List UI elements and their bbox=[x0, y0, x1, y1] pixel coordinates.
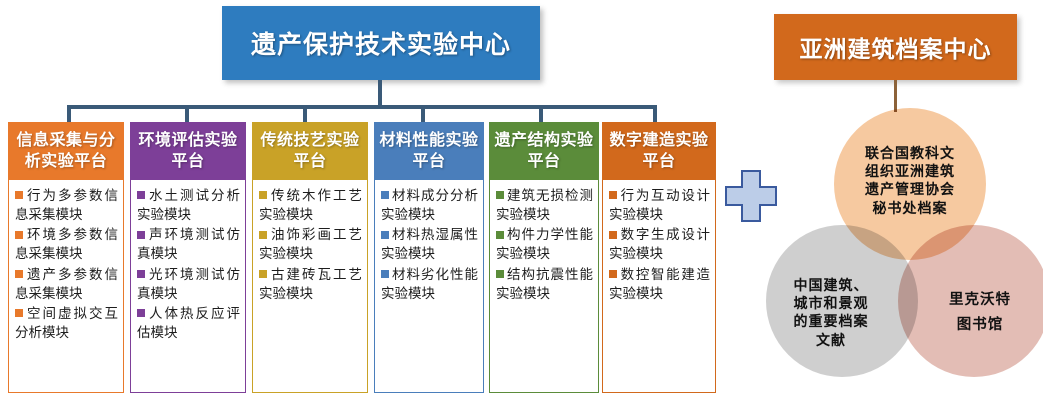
bullet-square-icon bbox=[259, 270, 267, 278]
module-label: 构件力学性能实验模块 bbox=[496, 227, 593, 261]
bullet-square-icon bbox=[15, 270, 23, 278]
module-label: 油饰彩画工艺实验模块 bbox=[259, 227, 362, 261]
platform-column-3[interactable]: 传统技艺实验平台传统木作工艺实验模块油饰彩画工艺实验模块古建砖瓦工艺实验模块 bbox=[252, 122, 368, 393]
module-item[interactable]: 构件力学性能实验模块 bbox=[496, 225, 593, 263]
module-item[interactable]: 数控智能建造实验模块 bbox=[609, 265, 710, 303]
venn-label-top: 联合国教科文组织亚洲建筑遗产管理协会秘书处档案 bbox=[840, 144, 980, 217]
main-title-box: 遗产保护技术实验中心 bbox=[222, 6, 540, 80]
platform-column-4[interactable]: 材料性能实验平台材料成分分析实验模块材料热湿属性实验模块材料劣化性能实验模块 bbox=[374, 122, 484, 393]
module-item[interactable]: 光环境测试仿真模块 bbox=[137, 265, 240, 303]
module-label: 行为多参数信息采集模块 bbox=[15, 188, 118, 222]
venn-label-line: 中国建筑、 bbox=[768, 276, 894, 294]
module-label: 传统木作工艺实验模块 bbox=[259, 188, 362, 222]
venn-label-bottom-right: 里克沃特图书馆 bbox=[920, 288, 1040, 339]
module-label: 遗产多参数信息采集模块 bbox=[15, 267, 118, 301]
connector-drop-3 bbox=[303, 105, 307, 122]
module-label: 光环境测试仿真模块 bbox=[137, 267, 240, 301]
venn-label-bottom-left: 中国建筑、城市和景观的重要档案文献 bbox=[768, 276, 894, 349]
connector-drop-2 bbox=[185, 105, 189, 122]
bullet-square-icon bbox=[137, 231, 145, 239]
module-label: 建筑无损检测实验模块 bbox=[496, 188, 593, 222]
platform-column-6[interactable]: 数字建造实验平台行为互动设计实验模块数字生成设计实验模块数控智能建造实验模块 bbox=[602, 122, 716, 393]
venn-label-line: 图书馆 bbox=[920, 313, 1040, 338]
module-label: 古建砖瓦工艺实验模块 bbox=[259, 267, 362, 301]
module-item[interactable]: 行为互动设计实验模块 bbox=[609, 186, 710, 224]
venn-label-line: 联合国教科文 bbox=[840, 144, 980, 162]
venn-label-line: 的重要档案 bbox=[768, 312, 894, 330]
module-label: 声环境测试仿真模块 bbox=[137, 227, 240, 261]
module-label: 空间虚拟交互分析模块 bbox=[15, 306, 118, 340]
venn-label-line: 秘书处档案 bbox=[840, 199, 980, 217]
bullet-square-icon bbox=[259, 191, 267, 199]
platform-column-body-4: 材料成分分析实验模块材料热湿属性实验模块材料劣化性能实验模块 bbox=[374, 180, 484, 393]
module-item[interactable]: 行为多参数信息采集模块 bbox=[15, 186, 118, 224]
platform-column-2[interactable]: 环境评估实验平台水土测试分析实验模块声环境测试仿真模块光环境测试仿真模块人体热反… bbox=[130, 122, 246, 393]
bullet-square-icon bbox=[381, 270, 389, 278]
module-item[interactable]: 环境多参数信息采集模块 bbox=[15, 225, 118, 263]
bullet-square-icon bbox=[137, 309, 145, 317]
platform-column-body-3: 传统木作工艺实验模块油饰彩画工艺实验模块古建砖瓦工艺实验模块 bbox=[252, 180, 368, 393]
platform-column-body-6: 行为互动设计实验模块数字生成设计实验模块数控智能建造实验模块 bbox=[602, 180, 716, 393]
module-item[interactable]: 数字生成设计实验模块 bbox=[609, 225, 710, 263]
connector-drop-5 bbox=[539, 105, 543, 122]
bullet-square-icon bbox=[137, 270, 145, 278]
module-label: 数字生成设计实验模块 bbox=[609, 227, 710, 261]
venn-label-line: 遗产管理协会 bbox=[840, 180, 980, 198]
bullet-square-icon bbox=[15, 231, 23, 239]
diagram-root: 遗产保护技术实验中心 信息采集与分析实验平台行为多参数信息采集模块环境多参数信息… bbox=[0, 0, 1043, 402]
right-title-box: 亚洲建筑档案中心 bbox=[774, 14, 1017, 80]
module-label: 行为互动设计实验模块 bbox=[609, 188, 710, 222]
module-item[interactable]: 材料劣化性能实验模块 bbox=[381, 265, 478, 303]
module-label: 水土测试分析实验模块 bbox=[137, 188, 240, 222]
module-label: 数控智能建造实验模块 bbox=[609, 267, 710, 301]
platform-column-body-1: 行为多参数信息采集模块环境多参数信息采集模块遗产多参数信息采集模块空间虚拟交互分… bbox=[8, 180, 124, 393]
platform-column-header-1: 信息采集与分析实验平台 bbox=[8, 122, 124, 180]
bullet-square-icon bbox=[15, 309, 23, 317]
connector-stem bbox=[378, 80, 382, 107]
bullet-square-icon bbox=[381, 191, 389, 199]
platform-column-5[interactable]: 遗产结构实验平台建筑无损检测实验模块构件力学性能实验模块结构抗震性能实验模块 bbox=[489, 122, 599, 393]
connector-bus bbox=[67, 105, 657, 109]
module-label: 材料热湿属性实验模块 bbox=[381, 227, 478, 261]
bullet-square-icon bbox=[496, 231, 504, 239]
bullet-square-icon bbox=[609, 191, 617, 199]
platform-column-header-2: 环境评估实验平台 bbox=[130, 122, 246, 180]
module-item[interactable]: 水土测试分析实验模块 bbox=[137, 186, 240, 224]
module-item[interactable]: 材料热湿属性实验模块 bbox=[381, 225, 478, 263]
module-item[interactable]: 古建砖瓦工艺实验模块 bbox=[259, 265, 362, 303]
bullet-square-icon bbox=[137, 191, 145, 199]
platform-column-body-2: 水土测试分析实验模块声环境测试仿真模块光环境测试仿真模块人体热反应评估模块 bbox=[130, 180, 246, 393]
bullet-square-icon bbox=[381, 231, 389, 239]
bullet-square-icon bbox=[496, 270, 504, 278]
venn-label-line: 里克沃特 bbox=[920, 288, 1040, 313]
bullet-square-icon bbox=[609, 231, 617, 239]
platform-column-body-5: 建筑无损检测实验模块构件力学性能实验模块结构抗震性能实验模块 bbox=[489, 180, 599, 393]
module-item[interactable]: 结构抗震性能实验模块 bbox=[496, 265, 593, 303]
bullet-square-icon bbox=[15, 191, 23, 199]
venn-label-line: 组织亚洲建筑 bbox=[840, 162, 980, 180]
connector-drop-1 bbox=[67, 105, 71, 122]
bullet-square-icon bbox=[609, 270, 617, 278]
platform-column-header-6: 数字建造实验平台 bbox=[602, 122, 716, 180]
venn-label-line: 文献 bbox=[768, 331, 894, 349]
module-item[interactable]: 空间虚拟交互分析模块 bbox=[15, 304, 118, 342]
module-label: 人体热反应评估模块 bbox=[137, 306, 240, 340]
platform-column-header-3: 传统技艺实验平台 bbox=[252, 122, 368, 180]
module-label: 环境多参数信息采集模块 bbox=[15, 227, 118, 261]
venn-diagram: 联合国教科文组织亚洲建筑遗产管理协会秘书处档案 中国建筑、城市和景观的重要档案文… bbox=[752, 108, 1043, 402]
bullet-square-icon bbox=[496, 191, 504, 199]
module-item[interactable]: 声环境测试仿真模块 bbox=[137, 225, 240, 263]
module-item[interactable]: 遗产多参数信息采集模块 bbox=[15, 265, 118, 303]
main-title-text: 遗产保护技术实验中心 bbox=[251, 25, 511, 61]
module-item[interactable]: 人体热反应评估模块 bbox=[137, 304, 240, 342]
venn-label-line: 城市和景观 bbox=[768, 294, 894, 312]
bullet-square-icon bbox=[259, 231, 267, 239]
module-item[interactable]: 材料成分分析实验模块 bbox=[381, 186, 478, 224]
platform-column-header-5: 遗产结构实验平台 bbox=[489, 122, 599, 180]
module-item[interactable]: 建筑无损检测实验模块 bbox=[496, 186, 593, 224]
connector-drop-6 bbox=[653, 105, 657, 122]
platform-column-header-4: 材料性能实验平台 bbox=[374, 122, 484, 180]
platform-column-1[interactable]: 信息采集与分析实验平台行为多参数信息采集模块环境多参数信息采集模块遗产多参数信息… bbox=[8, 122, 124, 393]
module-label: 结构抗震性能实验模块 bbox=[496, 267, 593, 301]
module-label: 材料劣化性能实验模块 bbox=[381, 267, 478, 301]
right-title-text: 亚洲建筑档案中心 bbox=[800, 30, 992, 64]
module-item[interactable]: 油饰彩画工艺实验模块 bbox=[259, 225, 362, 263]
module-label: 材料成分分析实验模块 bbox=[381, 188, 478, 222]
connector-drop-4 bbox=[421, 105, 425, 122]
module-item[interactable]: 传统木作工艺实验模块 bbox=[259, 186, 362, 224]
